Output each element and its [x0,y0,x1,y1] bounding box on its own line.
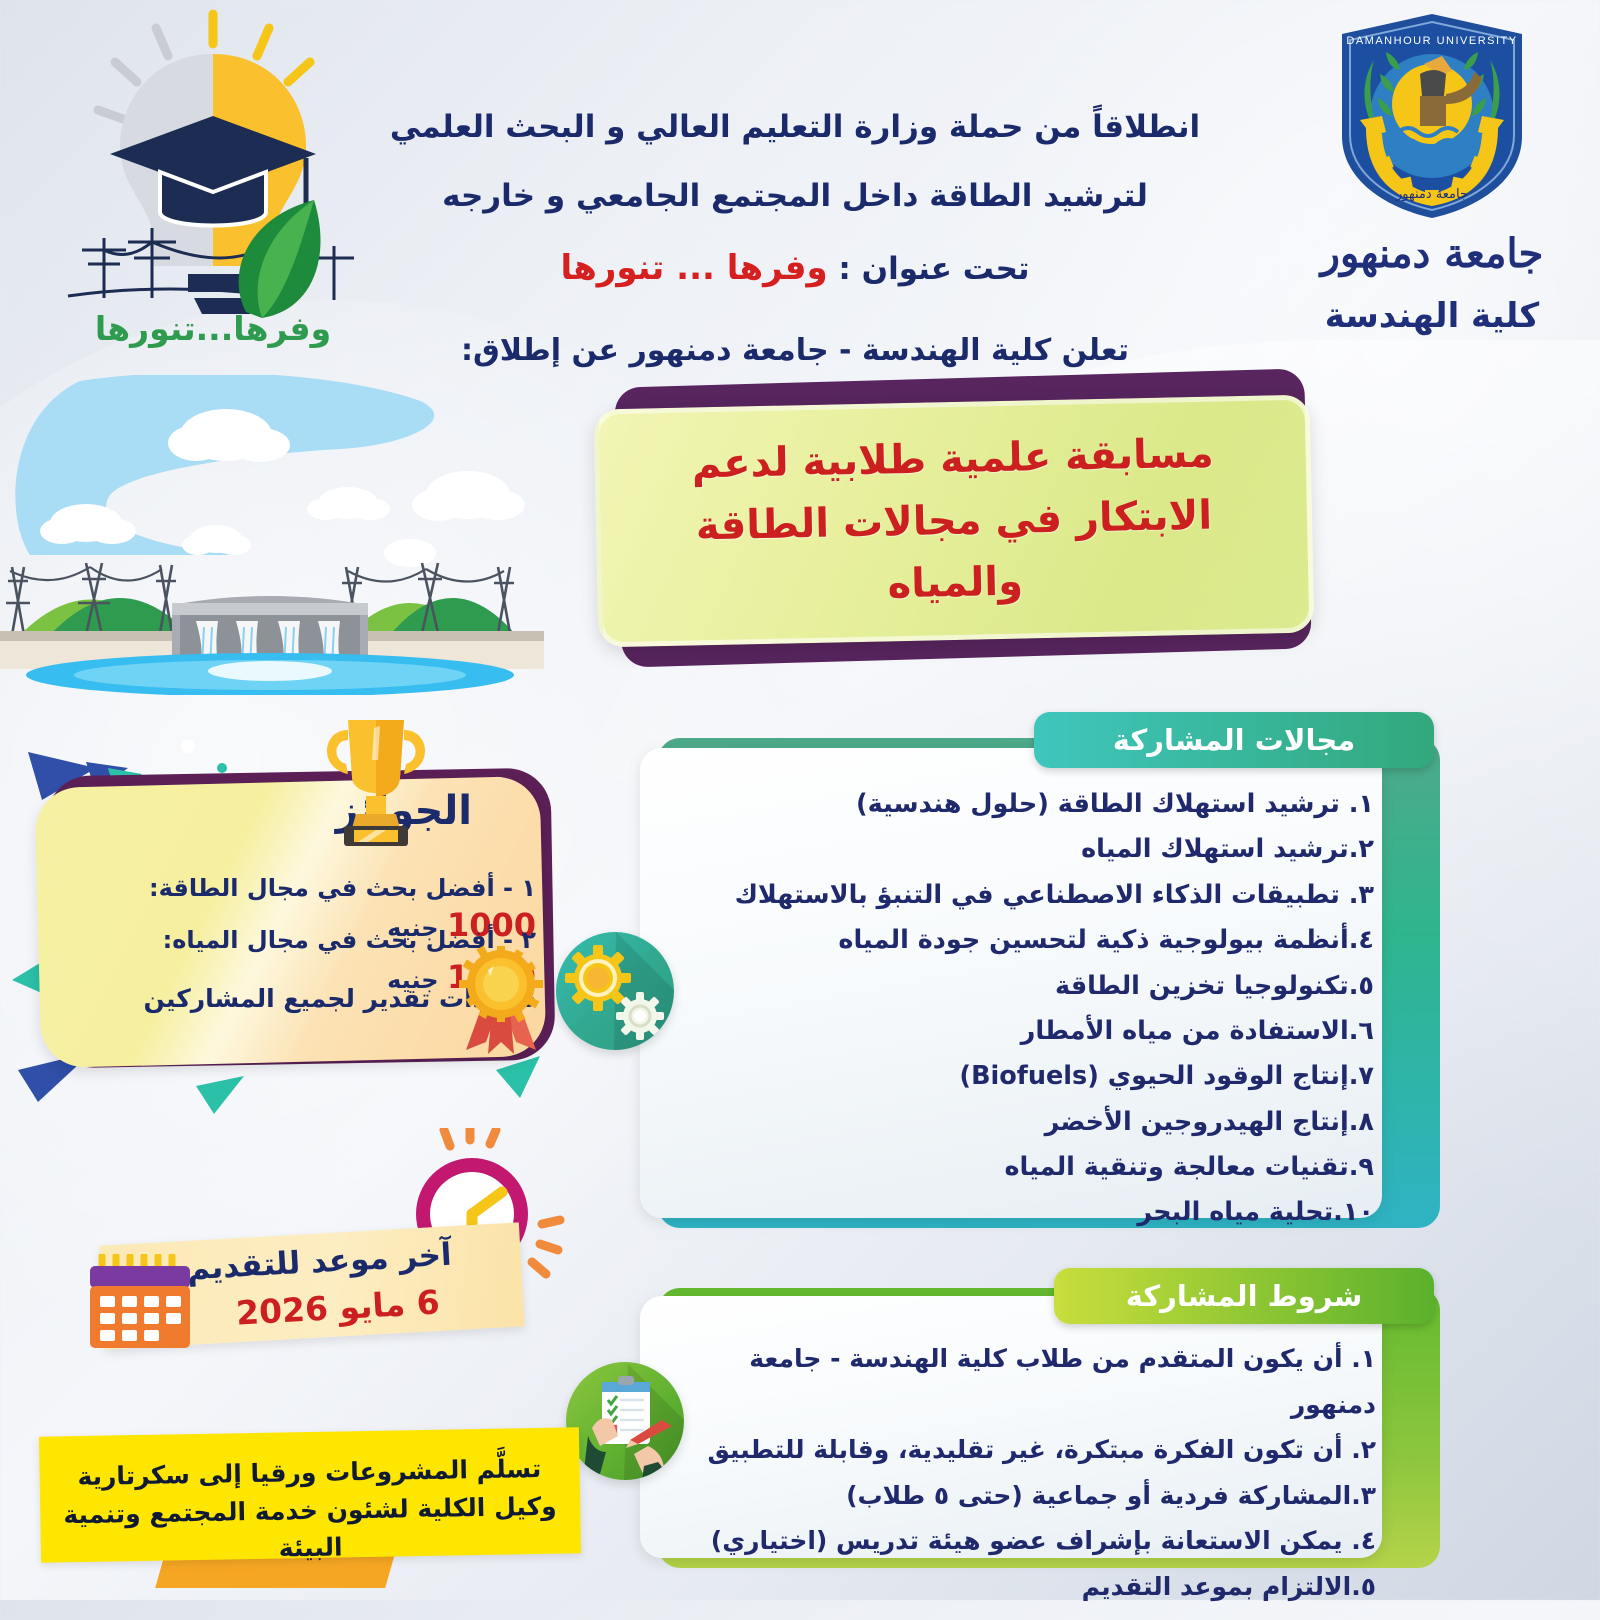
list-item: ٢.ترشيد استهلاك المياه [686,827,1374,872]
participation-conditions-panel: شروط المشاركة ١. أن يكون المتقدم من طلاب… [640,1268,1440,1578]
title-card: مسابقة علمية طلابية لدعم الابتكار في مجا… [594,395,1315,648]
deadline-block: آخر موعد للتقديم 6 مايو 2026 [44,1218,544,1358]
list-item: ٤. يمكن الاستعانة بإشراف عضو هيئة تدريس … [686,1518,1376,1564]
list-item: ٩.تقنيات معالجة وتنقية المياه [686,1145,1374,1190]
header-line-4: تعلن كلية الهندسة - جامعة دمنهور عن إطلا… [380,328,1210,373]
calendar-icon [86,1254,196,1354]
submission-line-2: وكيل الكلية لشئون خدمة المجتمع وتنمية ال… [63,1491,557,1562]
header-line-2: لترشيد الطاقة داخل المجتمع الجامعي و خار… [380,173,1210,220]
fields-panel-heading: مجالات المشاركة [1034,712,1434,768]
submission-note-text: تسلَّم المشروعات ورقيا إلى سكرتارية وكيل… [39,1449,581,1571]
conditions-list: ١. أن يكون المتقدم من طلاب كلية الهندسة … [686,1336,1416,1609]
list-item: ٣.المشاركة فردية أو جماعية (حتى ٥ طلاب) [686,1473,1376,1519]
campaign-slogan: وفرها...تنورها [48,309,378,348]
lightbulb-graduation-leaf-icon [48,6,378,356]
list-item: ١٠.تحلية مياه البحر [686,1190,1374,1235]
fields-list: ١. ترشيد استهلاك الطاقة (حلول هندسية) ٢.… [686,782,1414,1236]
main-title-line-1: مسابقة علمية طلابية لدعم [691,431,1214,488]
poster-root: وفرها...تنورها انطلاقاً من حملة وزارة ال… [0,0,1600,1600]
dam-illustration [0,375,550,695]
participation-fields-panel: مجالات المشاركة ١. ترشيد استهلاك الطاقة … [640,712,1440,1237]
svg-text:DAMANHOUR UNIVERSITY: DAMANHOUR UNIVERSITY [1346,35,1517,47]
header-line-1: انطلاقاً من حملة وزارة التعليم العالي و … [380,104,1210,151]
conditions-panel-heading: شروط المشاركة [1054,1268,1434,1324]
campaign-logo: وفرها...تنورها [48,6,378,356]
header-text-block: انطلاقاً من حملة وزارة التعليم العالي و … [380,104,1210,373]
main-title-line-2: الابتكار في مجالات الطاقة والمياه [695,493,1212,608]
list-item: ١. ترشيد استهلاك الطاقة (حلول هندسية) [686,782,1374,827]
hydroelectric-dam-illustration [0,375,550,695]
list-item: ٦.الاستفادة من مياه الأمطار [686,1009,1374,1054]
main-title-text: مسابقة علمية طلابية لدعم الابتكار في مجا… [599,421,1309,622]
award-rosette-icon [452,944,550,1056]
university-name-arabic: جامعة دمنهور [1282,230,1582,277]
list-item: ٥.الالتزام بموعد التقديم [686,1564,1376,1610]
list-item: ٧.إنتاج الوقود الحيوي (Biofuels) [686,1054,1374,1099]
submission-note: تسلَّم المشروعات ورقيا إلى سكرتارية وكيل… [40,1432,600,1582]
submission-line-1: تسلَّم المشروعات ورقيا إلى سكرتارية [77,1454,541,1491]
trophy-icon [300,716,450,846]
header-line-3: تحت عنوان : وفرها ... تنورها [380,243,1210,294]
list-item: ٢. أن تكون الفكرة مبتكرة، غير تقليدية، و… [686,1427,1376,1473]
svg-text:جامعة دمنهور: جامعة دمنهور [1395,187,1468,202]
list-item: ١. أن يكون المتقدم من طلاب كلية الهندسة … [686,1336,1376,1427]
header-line-3-prefix: تحت عنوان : [828,251,1030,287]
list-item: ٥.تكنولوجيا تخزين الطاقة [686,964,1374,1009]
university-logo: DAMANHOUR UNIVERSITY جامعة دمنهور جامعة … [1282,8,1582,358]
list-item: ٣. تطبيقات الذكاء الاصطناعي في التنبؤ با… [686,873,1374,918]
list-item: ٤.أنظمة بيولوجية ذكية لتحسين جودة المياه [686,918,1374,963]
list-item: ٨.إنتاج الهيدروجين الأخضر [686,1100,1374,1145]
prize-1-label: ١ - أفضل بحث في مجال الطاقة: [149,874,536,902]
main-title-banner: مسابقة علمية طلابية لدعم الابتكار في مجا… [596,378,1316,668]
faculty-name-arabic: كلية الهندسة [1282,296,1582,336]
damanhour-university-crest-icon: DAMANHOUR UNIVERSITY جامعة دمنهور [1282,8,1582,223]
header-slogan-accent: وفرها ... تنورها [560,248,827,288]
